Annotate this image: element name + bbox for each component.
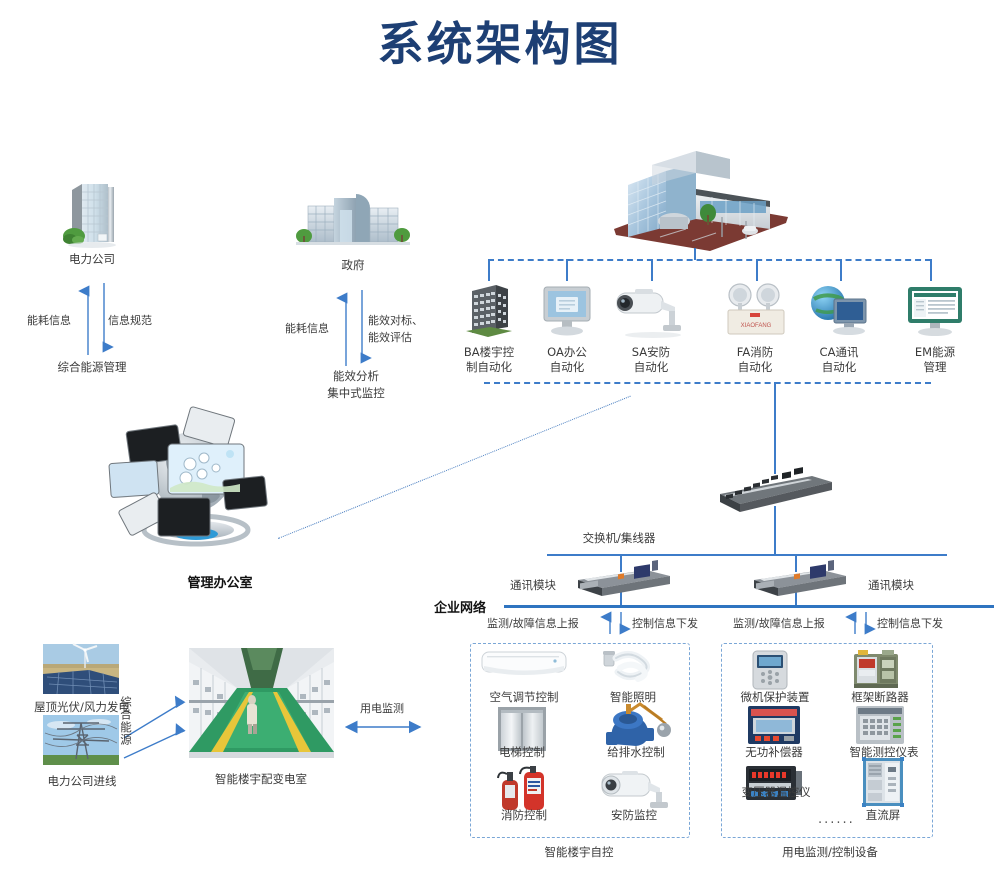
subsystem-label-2-line2: 自动化 xyxy=(526,360,608,375)
power-company-down-label: 信息规范 xyxy=(108,312,152,328)
building-automation-item-6-label: 安防监控 xyxy=(592,808,676,823)
left-down-flow-label: 控制信息下发 xyxy=(632,615,698,631)
smart-meter-icon xyxy=(855,705,905,745)
power-monitoring-group-caption: 用电监测/控制设备 xyxy=(745,845,915,860)
air-conditioner-icon xyxy=(481,650,567,682)
power-monitoring-item-6-label: 直流屏 xyxy=(850,808,916,823)
subsystem-label-5-line1: CA通讯 xyxy=(798,345,880,360)
power-monitoring-arrow xyxy=(348,718,428,736)
circuit-breaker-icon xyxy=(852,648,904,690)
government-arrows xyxy=(336,290,382,366)
comm-module-right-icon xyxy=(752,566,848,598)
smart-building-icon xyxy=(600,145,788,255)
power-monitoring-item-2-label: 框架断路器 xyxy=(836,690,924,705)
left-flow-arrows xyxy=(605,612,629,634)
subsystem-label-3-line1: SA安防 xyxy=(610,345,692,360)
office-to-subsystem-link xyxy=(278,396,631,539)
building-automation-group-caption: 智能楼宇自控 xyxy=(499,845,659,860)
transmission-tower-label: 电力公司进线 xyxy=(18,774,146,789)
integrated-energy-arrow-label: 综合能源 xyxy=(118,696,134,746)
government-down-label-2: 能效评估 xyxy=(368,329,412,345)
multi-screen-globe-icon xyxy=(110,410,290,550)
energy-analysis-label-1: 能效分析 xyxy=(300,369,412,384)
enterprise-network-line xyxy=(504,605,994,608)
page-title: 系统架构图 xyxy=(0,8,1000,74)
subsystem-bus-line xyxy=(488,259,931,261)
power-monitoring-item-5-label: 变压器温控仪 xyxy=(728,785,824,800)
protection-relay-icon xyxy=(749,650,791,690)
subsystem-drop-1 xyxy=(488,259,490,281)
subsystem-drop-3 xyxy=(651,259,653,281)
desktop-monitor-icon xyxy=(540,285,594,339)
reactive-compensator-icon xyxy=(747,705,801,745)
building-automation-item-5-label: 消防控制 xyxy=(482,808,566,823)
government-icon xyxy=(296,188,410,250)
cfl-bulb-icon xyxy=(600,648,656,686)
building-automation-item-1-label: 空气调节控制 xyxy=(474,690,574,705)
switch-downlink-line xyxy=(774,506,776,554)
emergency-light-icon: XIAOFANG xyxy=(722,283,790,339)
management-office-label: 管理办公室 xyxy=(160,572,280,591)
building-automation-item-3-label: 电梯控制 xyxy=(480,745,564,760)
right-up-flow-label: 监测/故障信息上报 xyxy=(733,615,825,631)
subsystem-drop-4 xyxy=(756,259,758,281)
subsystem-drop-6 xyxy=(930,259,932,281)
subsystem-drop-5 xyxy=(840,259,842,281)
globe-network-icon xyxy=(806,283,870,339)
subsystem-label-3-line2: 自动化 xyxy=(610,360,692,375)
left-up-flow-label: 监测/故障信息上报 xyxy=(487,615,579,631)
switch-label: 交换机/集线器 xyxy=(534,531,704,546)
substation-label: 智能楼宇配变电室 xyxy=(186,772,336,787)
comm-bus-line xyxy=(547,554,947,556)
power-monitoring-item-1-label: 微机保护装置 xyxy=(727,690,823,705)
right-down-flow-label: 控制信息下发 xyxy=(877,615,943,631)
switch-uplink-line xyxy=(774,382,776,474)
subsystem-label-6-line1: EM能源 xyxy=(894,345,976,360)
subsystem-label-4-line1: FA消防 xyxy=(714,345,796,360)
building-automation-icon xyxy=(462,281,516,339)
right-flow-arrows xyxy=(850,612,874,634)
svg-text:XIAOFANG: XIAOFANG xyxy=(741,323,772,329)
government-down-label-1: 能效对标、 xyxy=(368,312,423,328)
dc-panel-icon xyxy=(862,757,904,807)
energy-monitor-icon xyxy=(906,285,964,339)
power-monitoring-ellipsis: ...... xyxy=(818,812,855,827)
integrated-energy-management-label: 综合能源管理 xyxy=(32,360,152,375)
cctv-camera-icon xyxy=(613,287,687,339)
power-monitoring-arrow-label: 用电监测 xyxy=(360,700,404,716)
comm-module-left-label: 通讯模块 xyxy=(498,578,568,593)
subsystem-label-1-line2: 制自动化 xyxy=(448,360,530,375)
power-company-icon xyxy=(62,178,122,248)
fire-extinguisher-icon xyxy=(494,766,554,814)
power-company-label: 电力公司 xyxy=(32,252,152,267)
subsystem-label-5-line2: 自动化 xyxy=(798,360,880,375)
transmission-tower-photo xyxy=(43,715,119,765)
subsystem-lower-bus-line xyxy=(484,382,931,384)
government-label: 政府 xyxy=(293,258,413,273)
comm-module-left-icon xyxy=(576,566,672,598)
substation-room-photo xyxy=(189,648,334,758)
subsystem-label-4-line2: 自动化 xyxy=(714,360,796,375)
power-company-up-label: 能耗信息 xyxy=(27,312,71,328)
energy-analysis-label-2: 集中式监控 xyxy=(300,386,412,401)
building-automation-item-4-label: 给排水控制 xyxy=(588,745,684,760)
subsystem-drop-2 xyxy=(566,259,568,281)
comm-module-right-label: 通讯模块 xyxy=(856,578,926,593)
power-monitoring-item-3-label: 无功补偿器 xyxy=(730,745,818,760)
subsystem-label-6-line2: 管理 xyxy=(894,360,976,375)
subsystem-label-1-line1: BA楼宇控 xyxy=(448,345,530,360)
government-up-label: 能耗信息 xyxy=(285,320,329,336)
subsystem-label-2-line1: OA办公 xyxy=(526,345,608,360)
solar-wind-photo xyxy=(43,644,119,694)
enterprise-network-label: 企业网络 xyxy=(434,597,486,616)
